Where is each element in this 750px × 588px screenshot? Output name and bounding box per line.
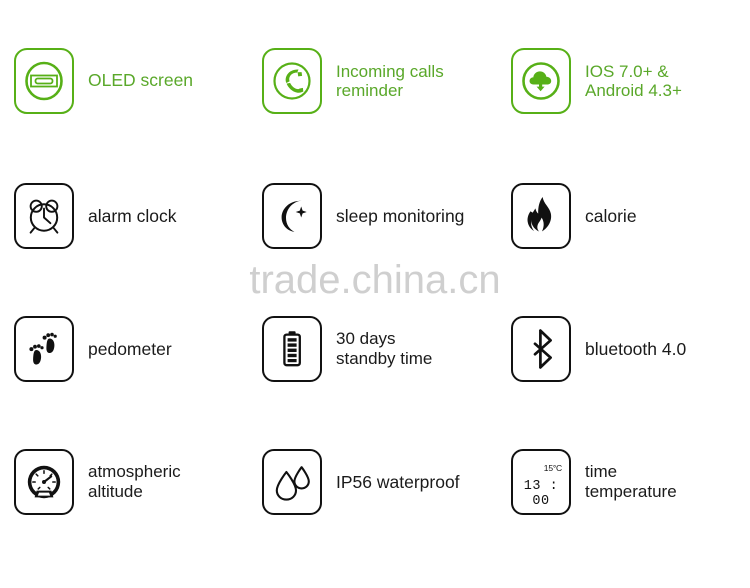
battery-icon	[262, 316, 322, 382]
bluetooth-icon	[511, 316, 571, 382]
feature-label: time temperature	[585, 462, 677, 501]
feature-item-os-compatibility: IOS 7.0+ & Android 4.3+	[511, 48, 682, 114]
time-temperature-display-icon: 15°C 13 : 00	[511, 449, 571, 515]
feature-label: Incoming calls reminder	[336, 62, 444, 101]
water-drops-icon	[262, 449, 322, 515]
feature-grid: OLED screen Incoming calls reminder IOS …	[0, 0, 750, 588]
feature-item-alarm-clock: alarm clock	[14, 183, 177, 249]
phone-handset-icon	[262, 48, 322, 114]
feature-item-standby-time: 30 days standby time	[262, 316, 432, 382]
feature-item-waterproof: IP56 waterproof	[262, 449, 460, 515]
feature-item-bluetooth: bluetooth 4.0	[511, 316, 686, 382]
gauge-icon	[14, 449, 74, 515]
feature-item-atmospheric-altitude: atmospheric altitude	[14, 449, 181, 515]
alarm-clock-icon	[14, 183, 74, 249]
flame-icon	[511, 183, 571, 249]
moon-star-icon	[262, 183, 322, 249]
feature-label: OLED screen	[88, 71, 193, 91]
feature-item-sleep-monitoring: sleep monitoring	[262, 183, 464, 249]
feature-item-oled-screen: OLED screen	[14, 48, 193, 114]
feature-label: atmospheric altitude	[88, 462, 181, 501]
temperature-reading: 15°C	[544, 463, 562, 473]
feature-item-incoming-calls-reminder: Incoming calls reminder	[262, 48, 444, 114]
feature-label: bluetooth 4.0	[585, 339, 686, 359]
feature-item-calorie: calorie	[511, 183, 637, 249]
feature-label: alarm clock	[88, 206, 177, 226]
oled-screen-icon	[14, 48, 74, 114]
feature-label: IP56 waterproof	[336, 472, 460, 492]
cloud-download-icon	[511, 48, 571, 114]
feature-label: sleep monitoring	[336, 206, 464, 226]
feature-label: pedometer	[88, 339, 172, 359]
feature-item-pedometer: pedometer	[14, 316, 172, 382]
feature-label: calorie	[585, 206, 637, 226]
footprints-icon	[14, 316, 74, 382]
feature-item-time-temperature: 15°C 13 : 00 time temperature	[511, 449, 677, 515]
feature-label: IOS 7.0+ & Android 4.3+	[585, 62, 682, 101]
time-reading: 13 : 00	[517, 479, 565, 509]
feature-label: 30 days standby time	[336, 329, 432, 368]
